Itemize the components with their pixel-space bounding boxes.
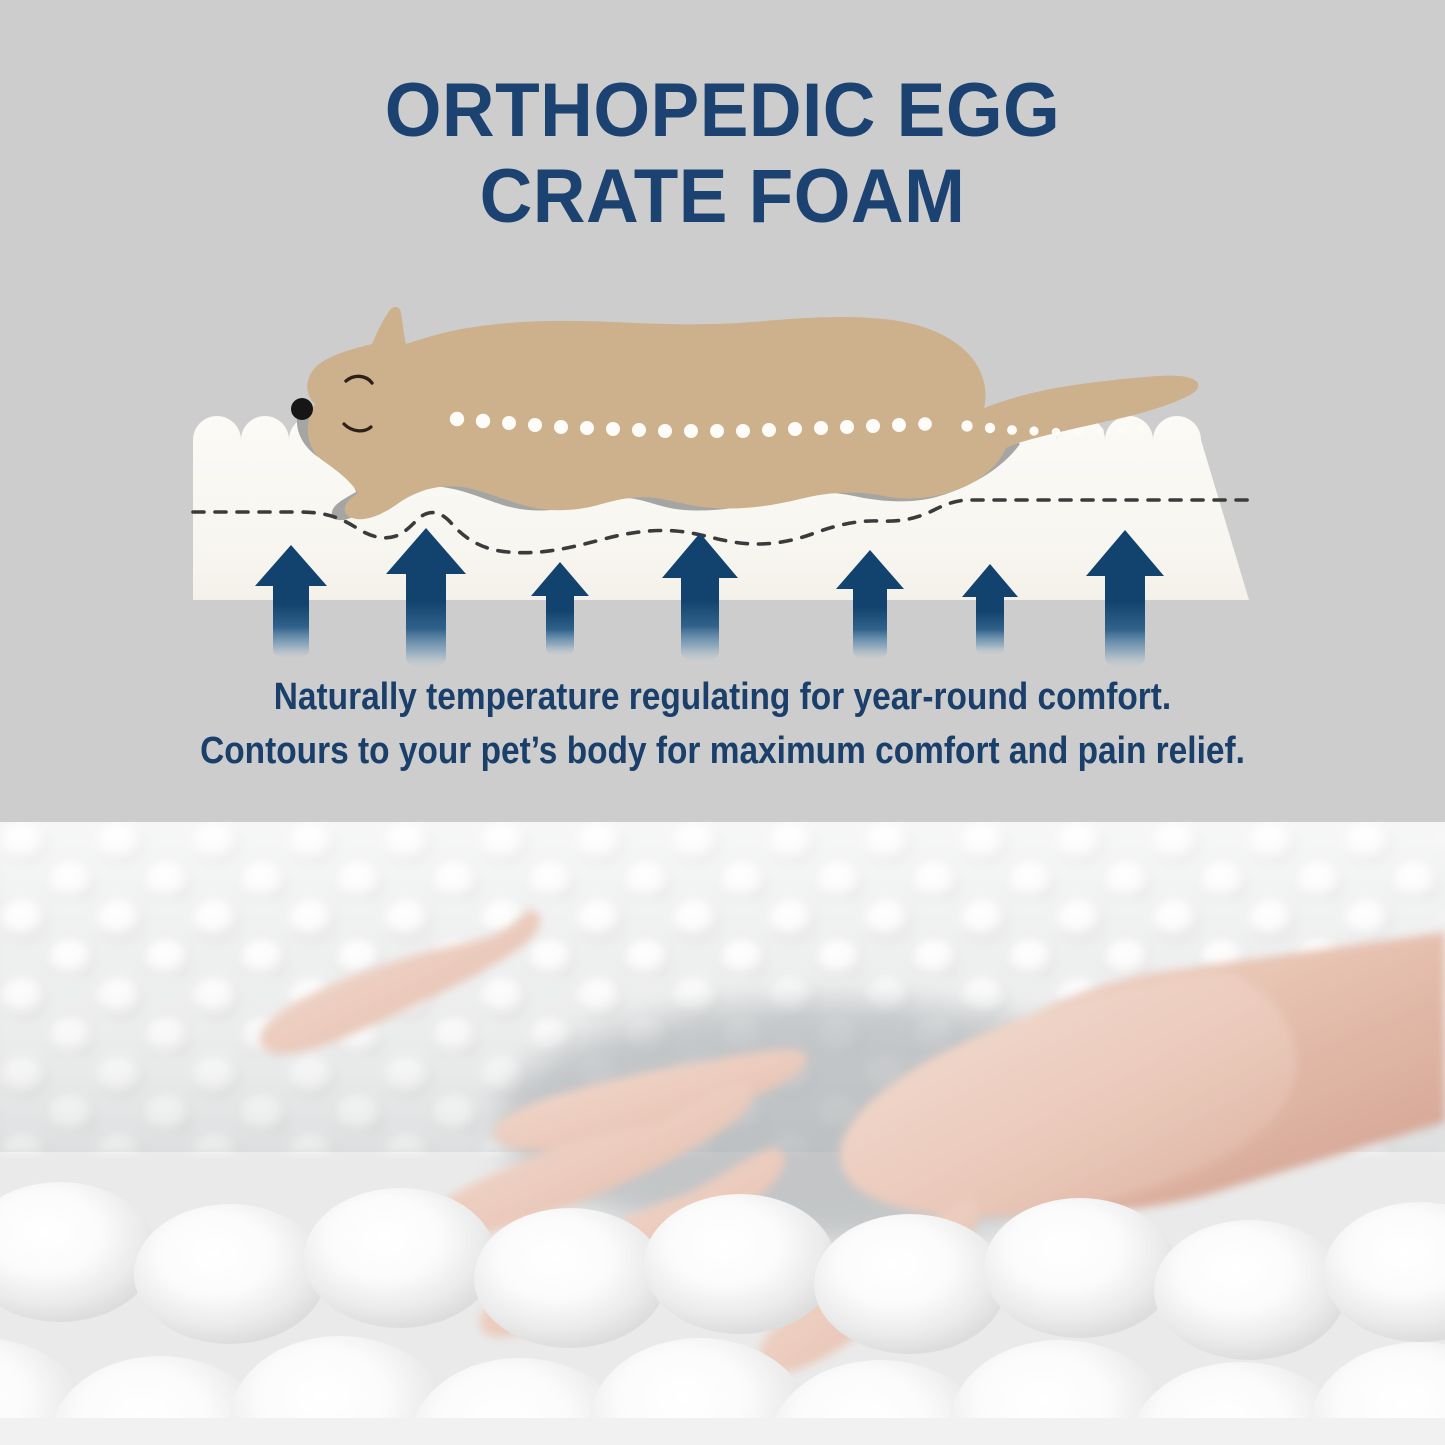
feature-captions: Naturally temperature regulating for yea… [0, 670, 1445, 778]
dog-nose [291, 398, 313, 420]
product-infographic: ORTHOPEDIC EGGCRATE FOAM [0, 0, 1445, 1445]
foam-photo-panel [0, 822, 1445, 1445]
hand-pressing-foam-photo [0, 822, 1445, 1445]
illustration-panel: ORTHOPEDIC EGGCRATE FOAM [0, 0, 1445, 822]
caption-line-1: Naturally temperature regulating for yea… [87, 670, 1359, 724]
caption-line-2: Contours to your pet’s body for maximum … [87, 724, 1359, 778]
